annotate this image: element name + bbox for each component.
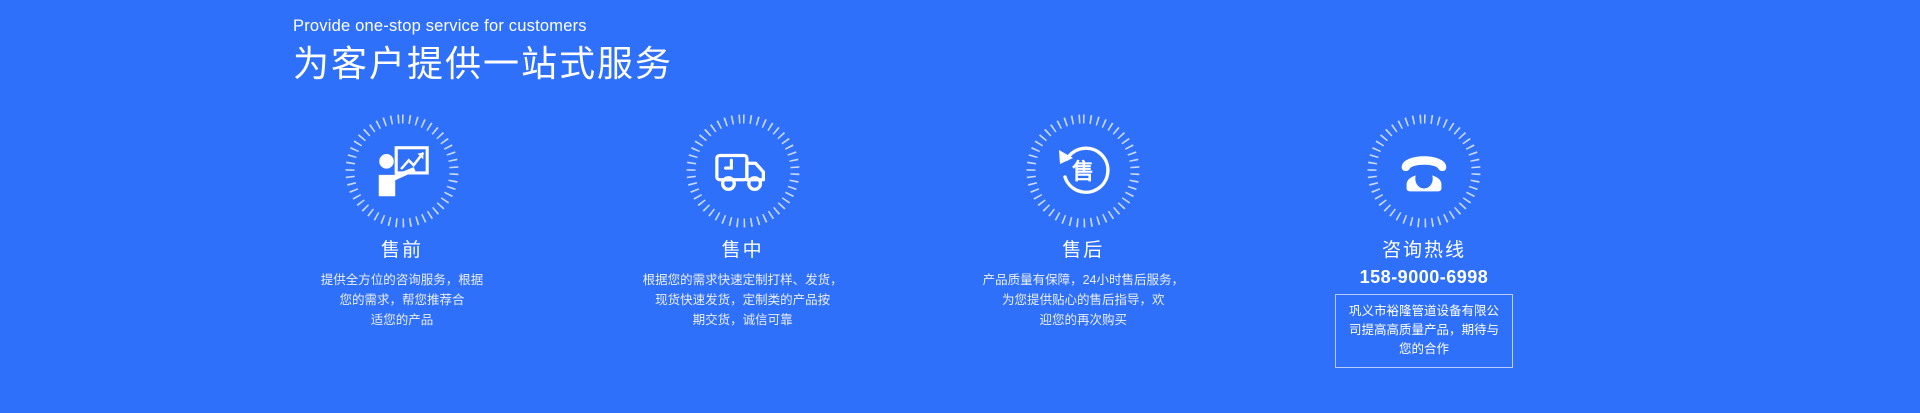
column-title: 售前 <box>381 238 423 264</box>
icon-wrapper-presale <box>343 112 461 230</box>
telephone-icon <box>1392 139 1456 203</box>
page-title: 为客户提供一站式服务 <box>293 42 1193 86</box>
note-line: 司提高高质量产品，期待与 <box>1348 321 1500 340</box>
note-line: 您的合作 <box>1348 340 1500 359</box>
desc-line: 迎您的再次购买 <box>953 310 1213 330</box>
heading-eyebrow: Provide one-stop service for customers <box>293 14 1193 38</box>
service-column-hotline[interactable]: 咨询热线 158-9000-6998 巩义市裕隆管道设备有限公 司提高高质量产品… <box>1290 112 1558 368</box>
presenter-board-icon <box>370 139 434 203</box>
service-column-presale[interactable]: 售前 提供全方位的咨询服务，根据 您的需求，帮您推荐合 适您的产品 <box>268 112 536 330</box>
column-description: 根据您的需求快速定制打样、发货， 现货快速发货，定制类的产品按 期交货，诚信可靠 <box>613 270 873 330</box>
column-description: 提供全方位的咨询服务，根据 您的需求，帮您推荐合 适您的产品 <box>272 270 532 330</box>
note-line: 巩义市裕隆管道设备有限公 <box>1348 302 1500 321</box>
column-description: 产品质量有保障，24小时售后服务， 为您提供贴心的售后指导，欢 迎您的再次购买 <box>953 270 1213 330</box>
icon-wrapper-hotline <box>1365 112 1483 230</box>
desc-line: 为您提供贴心的售后指导，欢 <box>953 290 1213 310</box>
service-banner: Provide one-stop service for customers 为… <box>0 0 1920 413</box>
desc-line: 现货快速发货，定制类的产品按 <box>613 290 873 310</box>
after-sales-refresh-icon: 售 <box>1051 139 1115 203</box>
desc-line: 期交货，诚信可靠 <box>613 310 873 330</box>
svg-text:售: 售 <box>1072 159 1094 184</box>
desc-line: 适您的产品 <box>272 310 532 330</box>
icon-wrapper-insale <box>684 112 802 230</box>
banner-heading: Provide one-stop service for customers 为… <box>293 14 1193 86</box>
delivery-truck-clock-icon <box>711 139 775 203</box>
hotline-phone-number[interactable]: 158-9000-6998 <box>1360 265 1489 289</box>
icon-wrapper-aftersale: 售 <box>1024 112 1142 230</box>
service-column-insale[interactable]: 售中 根据您的需求快速定制打样、发货， 现货快速发货，定制类的产品按 期交货，诚… <box>609 112 877 330</box>
column-title: 咨询热线 <box>1382 238 1466 264</box>
company-note-box: 巩义市裕隆管道设备有限公 司提高高质量产品，期待与 您的合作 <box>1335 294 1513 368</box>
desc-line: 提供全方位的咨询服务，根据 <box>272 270 532 290</box>
desc-line: 根据您的需求快速定制打样、发货， <box>613 270 873 290</box>
service-columns: 售前 提供全方位的咨询服务，根据 您的需求，帮您推荐合 适您的产品 <box>268 112 1558 368</box>
desc-line: 您的需求，帮您推荐合 <box>272 290 532 310</box>
service-column-aftersale[interactable]: 售 售后 产品质量有保障，24小时售后服务， 为您提供贴心的售后指导，欢 迎您的… <box>949 112 1217 330</box>
column-title: 售后 <box>1062 238 1104 264</box>
column-title: 售中 <box>722 238 764 264</box>
desc-line: 产品质量有保障，24小时售后服务， <box>953 270 1213 290</box>
